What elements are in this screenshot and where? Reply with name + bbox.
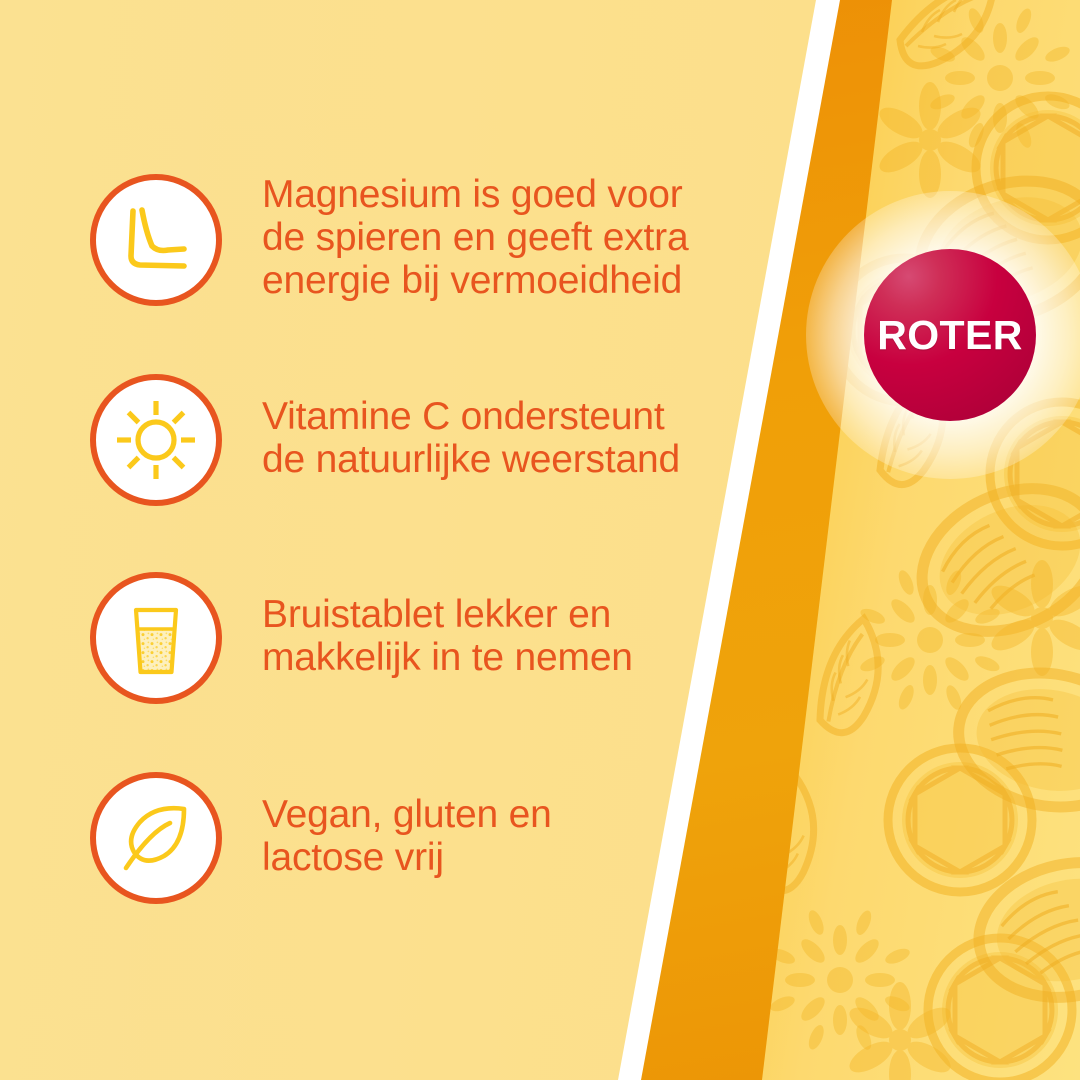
feature-item-vitamin-c: Vitamine C ondersteunt de natuurlijke we… (90, 374, 680, 506)
feature-text-effervescent: Bruistablet lekker en makkelijk in te ne… (262, 594, 633, 680)
feature-text-vegan: Vegan, gluten en lactose vrij (262, 794, 552, 880)
feature-text-magnesium: Magnesium is goed voor de spieren en gee… (262, 174, 688, 303)
logo-circle: ROTER (864, 249, 1036, 421)
feature-list: Magnesium is goed voor de spieren en gee… (0, 0, 780, 1080)
feature-item-vegan: Vegan, gluten en lactose vrij (90, 772, 552, 904)
leaf-icon (90, 772, 222, 904)
roter-logo: ROTER (864, 249, 1036, 421)
product-benefits-poster: ROTER Magnesium is goed voor de spieren … (0, 0, 1080, 1080)
feature-item-magnesium: Magnesium is goed voor de spieren en gee… (90, 174, 688, 306)
feature-item-effervescent: Bruistablet lekker en makkelijk in te ne… (90, 572, 633, 704)
sun-icon (90, 374, 222, 506)
flexed-arm-icon (90, 174, 222, 306)
logo-wordmark: ROTER (877, 312, 1023, 359)
fizzy-glass-icon (90, 572, 222, 704)
feature-text-vitamin-c: Vitamine C ondersteunt de natuurlijke we… (262, 396, 680, 482)
